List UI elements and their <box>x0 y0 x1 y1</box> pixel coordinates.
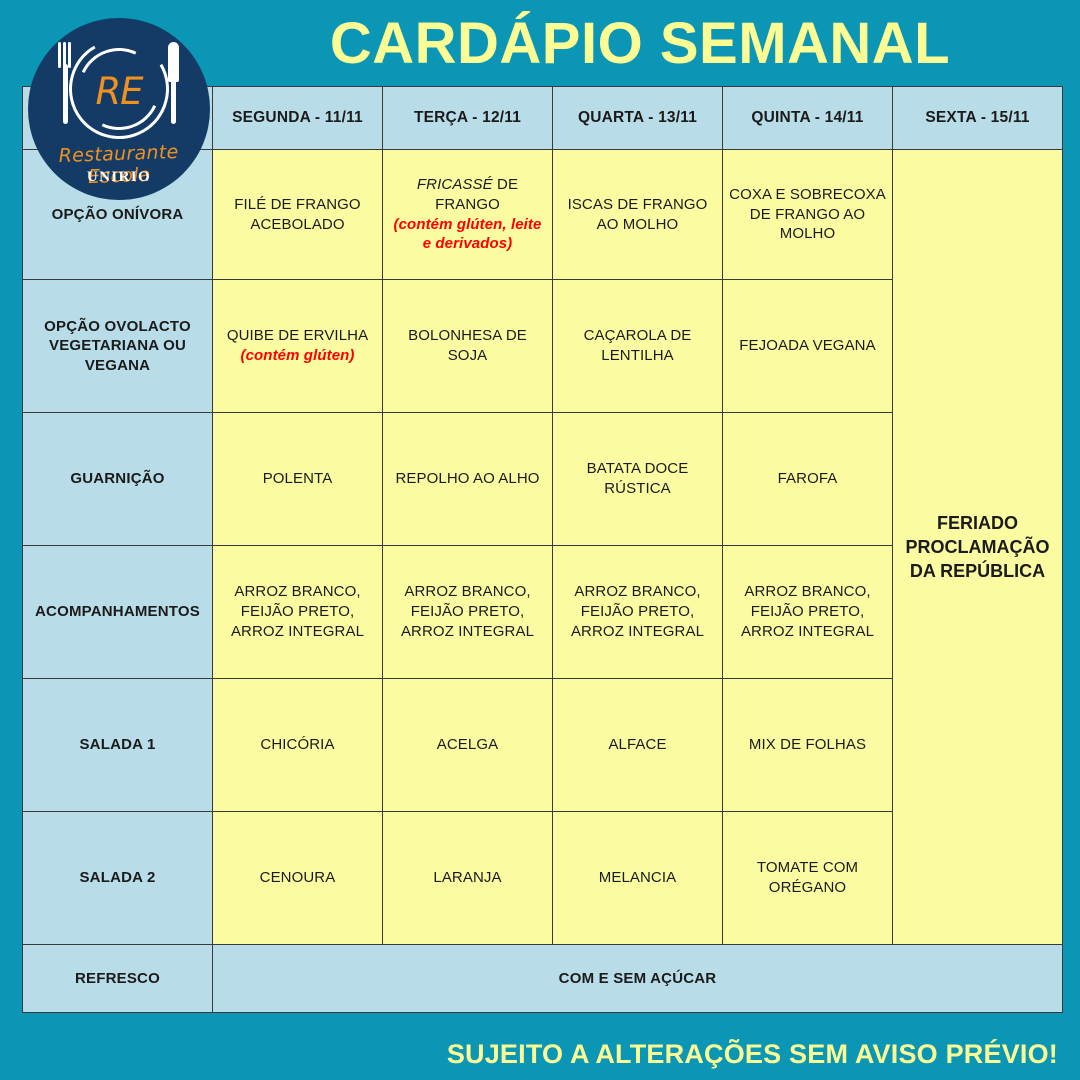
dish-main: FEJOADA VEGANA <box>739 337 875 354</box>
menu-cell-veg-quinta: FEJOADA VEGANA <box>723 280 893 413</box>
dish-main: BOLONHESA DE SOJA <box>408 327 527 364</box>
row-label-salada2: SALADA 2 <box>23 812 213 945</box>
menu-cell-acomp-terca: ARROZ BRANCO, FEIJÃO PRETO, ARROZ INTEGR… <box>383 546 553 679</box>
menu-cell-onivora-quarta: ISCAS DE FRANGO AO MOLHO <box>553 150 723 280</box>
menu-cell-veg-quarta: CAÇAROLA DE LENTILHA <box>553 280 723 413</box>
dish-main: QUIBE DE ERVILHA <box>227 327 368 344</box>
menu-cell-salada2-terca: LARANJA <box>383 812 553 945</box>
day-header-sexta: SEXTA - 15/11 <box>893 87 1063 150</box>
footer-disclaimer: SUJEITO A ALTERAÇÕES SEM AVISO PRÉVIO! <box>447 1039 1058 1070</box>
menu-cell-salada2-quinta: TOMATE COM ORÉGANO <box>723 812 893 945</box>
day-header-quinta: QUINTA - 14/11 <box>723 87 893 150</box>
menu-cell-veg-terca: BOLONHESA DE SOJA <box>383 280 553 413</box>
refresco-value: COM E SEM AÇÚCAR <box>213 945 1063 1013</box>
logo-institution: UNIRIO <box>28 169 210 186</box>
menu-cell-onivora-segunda: FILÉ DE FRANGO ACEBOLADO <box>213 150 383 280</box>
dish-main: FILÉ DE FRANGO ACEBOLADO <box>234 196 360 233</box>
row-label-vegetariana: OPÇÃO OVOLACTO VEGETARIANA OU VEGANA <box>23 280 213 413</box>
dish-italic-lead: FRICASSÉ <box>417 176 493 193</box>
menu-cell-acomp-segunda: ARROZ BRANCO, FEIJÃO PRETO, ARROZ INTEGR… <box>213 546 383 679</box>
page-title: CARDÁPIO SEMANAL <box>210 8 1070 80</box>
row-label-salada1: SALADA 1 <box>23 679 213 812</box>
menu-cell-salada1-quinta: MIX DE FOLHAS <box>723 679 893 812</box>
menu-cell-acomp-quinta: ARROZ BRANCO, FEIJÃO PRETO, ARROZ INTEGR… <box>723 546 893 679</box>
dish-main: ISCAS DE FRANGO AO MOLHO <box>568 196 708 233</box>
menu-cell-guarnicao-segunda: POLENTA <box>213 413 383 546</box>
day-header-terca: TERÇA - 12/11 <box>383 87 553 150</box>
restaurant-logo: RE Restaurante Escola UNIRIO <box>28 18 210 200</box>
weekly-menu-table: SEGUNDA - 11/11 TERÇA - 12/11 QUARTA - 1… <box>22 86 1063 1013</box>
table-row: REFRESCO COM E SEM AÇÚCAR <box>23 945 1063 1013</box>
menu-cell-onivora-terca: FRICASSÉ DE FRANGO (contém glúten, leite… <box>383 150 553 280</box>
friday-holiday-notice: FERIADO PROCLAMAÇÃO DA REPÚBLICA <box>893 150 1063 945</box>
dish-main: CAÇAROLA DE LENTILHA <box>584 327 692 364</box>
menu-cell-guarnicao-terca: REPOLHO AO ALHO <box>383 413 553 546</box>
allergen-note: (contém glúten) <box>218 346 377 366</box>
menu-cell-salada1-terca: ACELGA <box>383 679 553 812</box>
menu-cell-guarnicao-quinta: FAROFA <box>723 413 893 546</box>
dish-main: COXA E SOBRECOXA DE FRANGO AO MOLHO <box>729 186 886 243</box>
menu-cell-salada2-segunda: CENOURA <box>213 812 383 945</box>
menu-cell-salada1-segunda: CHICÓRIA <box>213 679 383 812</box>
allergen-note: (contém glúten, leite e derivados) <box>388 215 547 255</box>
menu-cell-veg-segunda: QUIBE DE ERVILHA (contém glúten) <box>213 280 383 413</box>
menu-cell-onivora-quinta: COXA E SOBRECOXA DE FRANGO AO MOLHO <box>723 150 893 280</box>
row-label-acompanhamentos: ACOMPANHAMENTOS <box>23 546 213 679</box>
row-label-refresco: REFRESCO <box>23 945 213 1013</box>
menu-cell-salada1-quarta: ALFACE <box>553 679 723 812</box>
menu-cell-acomp-quarta: ARROZ BRANCO, FEIJÃO PRETO, ARROZ INTEGR… <box>553 546 723 679</box>
logo-initials: RE <box>28 70 210 113</box>
row-label-guarnicao: GUARNIÇÃO <box>23 413 213 546</box>
menu-cell-guarnicao-quarta: BATATA DOCE RÚSTICA <box>553 413 723 546</box>
day-header-segunda: SEGUNDA - 11/11 <box>213 87 383 150</box>
day-header-quarta: QUARTA - 13/11 <box>553 87 723 150</box>
menu-cell-salada2-quarta: MELANCIA <box>553 812 723 945</box>
